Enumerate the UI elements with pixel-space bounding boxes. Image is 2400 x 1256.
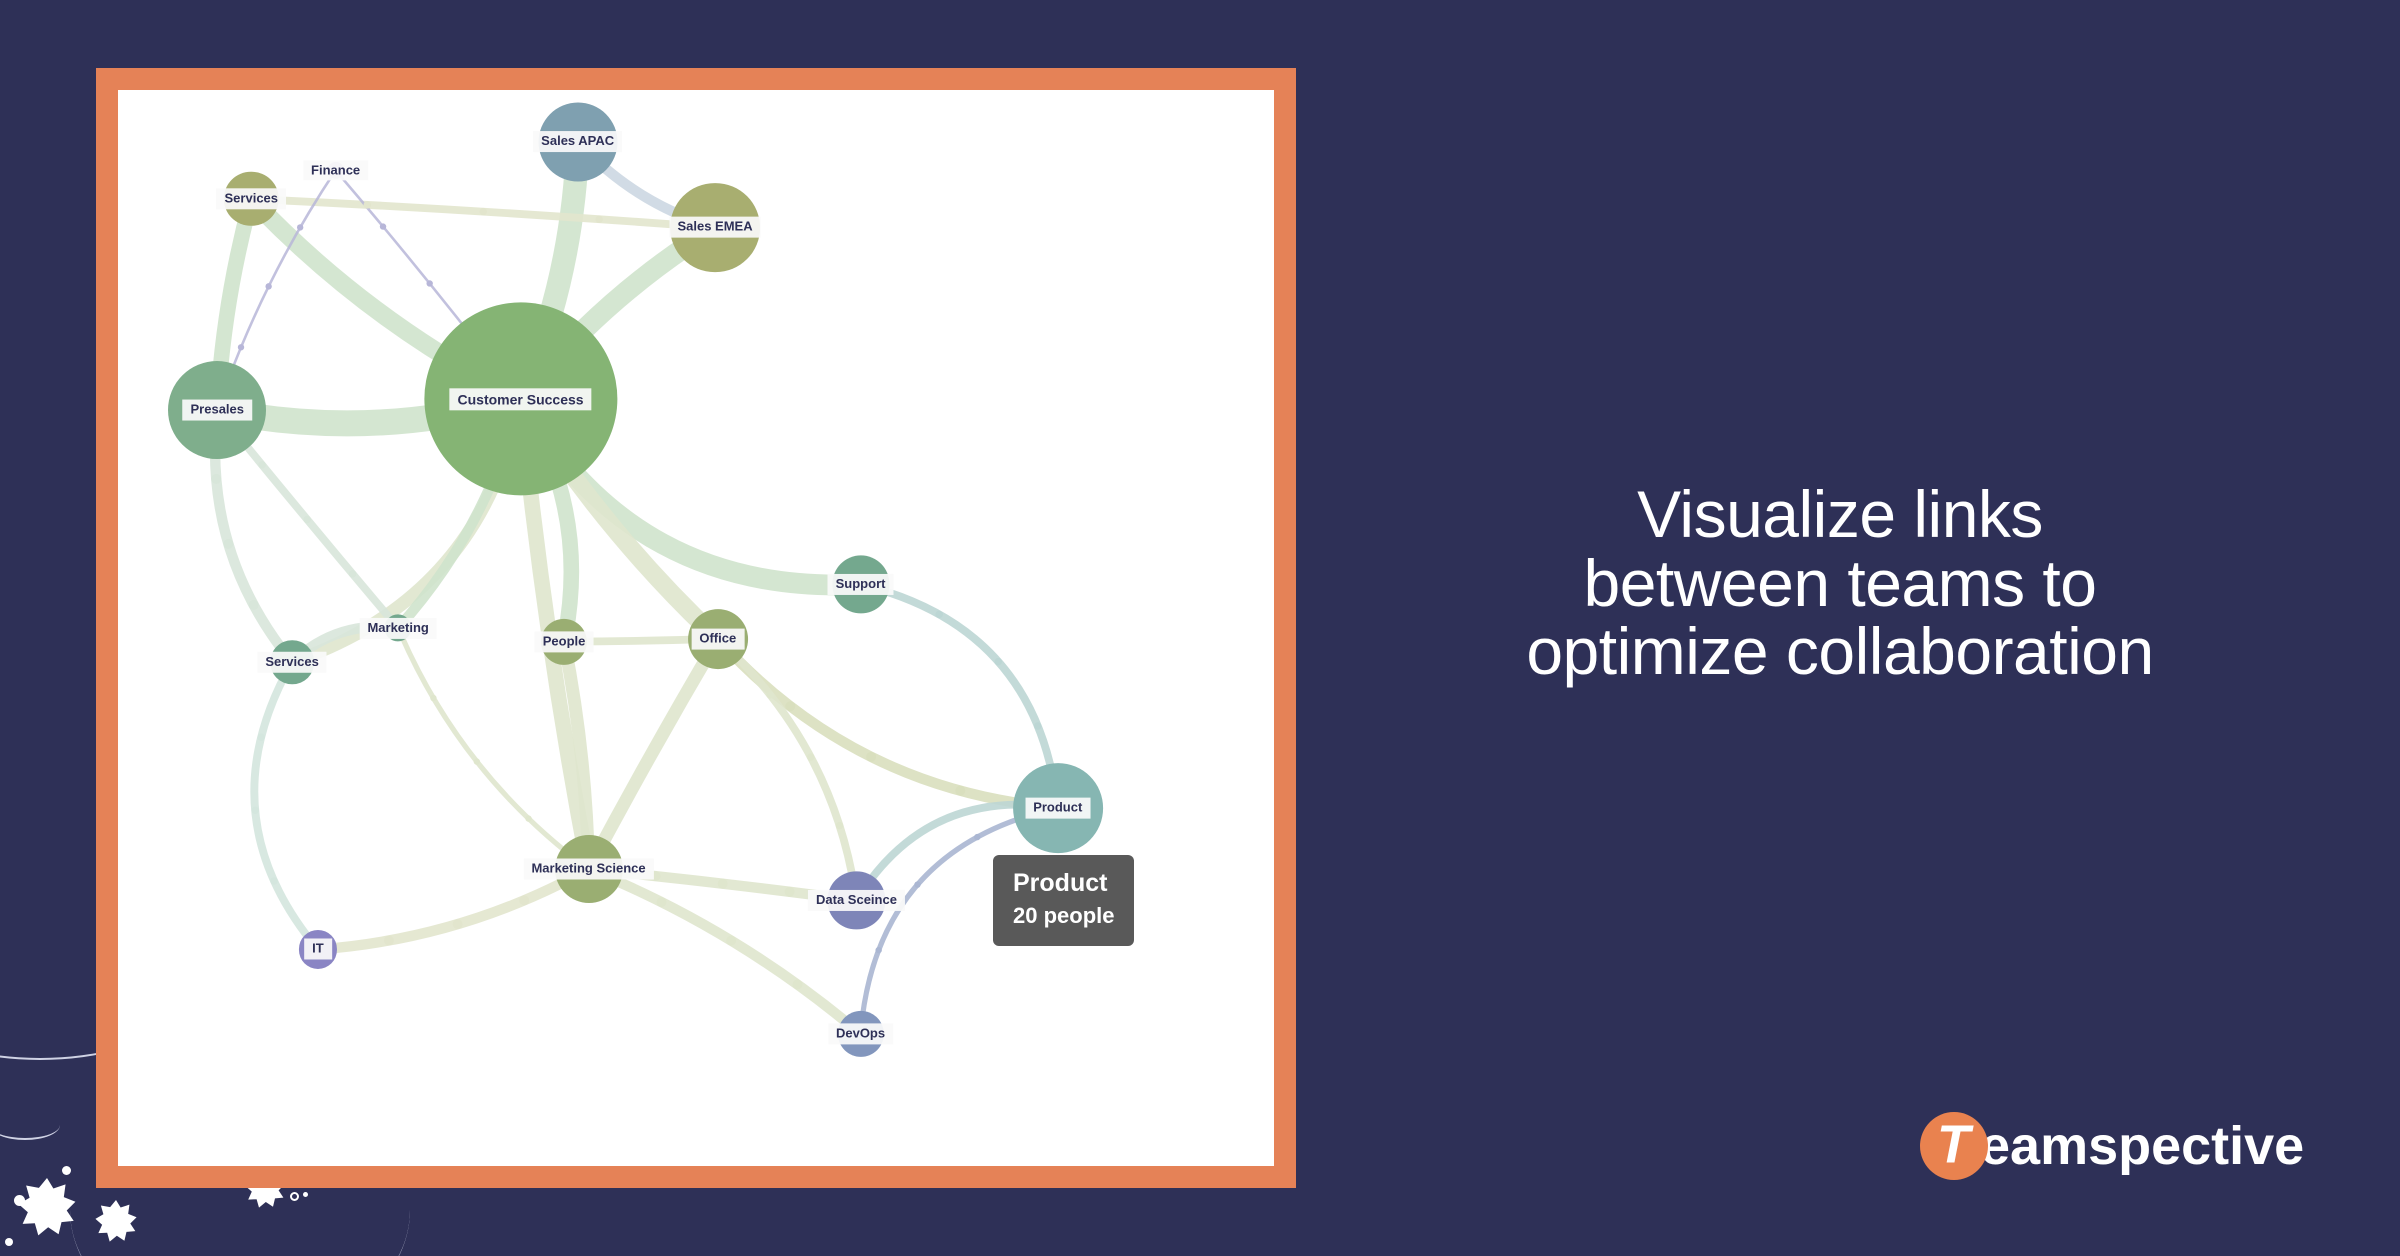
graph-node-presales[interactable]: Presales — [168, 361, 266, 459]
graph-node-label: Presales — [183, 400, 253, 421]
graph-node-label: Marketing Science — [523, 859, 653, 880]
graph-node-support[interactable]: Support — [832, 556, 889, 613]
graph-edge-dot — [595, 215, 603, 223]
graph-node-label: Sales EMEA — [669, 217, 760, 238]
graph-edge-dot — [384, 936, 394, 946]
decor-tick — [0, 1110, 60, 1140]
graph-node-label: Marketing — [359, 618, 436, 639]
graph-edge-dot — [519, 895, 529, 905]
graph-node-label: Customer Success — [450, 388, 592, 410]
graph-edge-dot — [270, 877, 278, 885]
logo-letter: T — [1937, 1117, 1970, 1171]
graph-node-label: Services — [257, 652, 327, 673]
graph-edge-dot — [265, 283, 271, 289]
graph-node-services-top[interactable]: Services — [224, 172, 278, 226]
headline-line-2: between teams to — [1390, 549, 2290, 618]
graph-node-sales-emea[interactable]: Sales EMEA — [670, 183, 760, 273]
graph-edge-dot — [303, 516, 311, 524]
graph-edge[interactable] — [254, 662, 318, 949]
graph-edge-dot — [257, 734, 265, 742]
graph-edge-dot — [875, 947, 881, 953]
graph-node-devops[interactable]: DevOps — [837, 1011, 883, 1057]
network-card: Sales APACFinanceServicesSales EMEAPresa… — [118, 90, 1274, 1166]
graph-edge-dot — [258, 461, 266, 469]
graph-edge-dot — [793, 980, 803, 990]
graph-node-customer-success[interactable]: Customer Success — [424, 303, 617, 496]
decor-blob-medium — [95, 1200, 137, 1242]
graph-edge-dot — [474, 758, 480, 764]
headline-line-3: optimize collaboration — [1390, 617, 2290, 686]
graph-node-marketing[interactable]: Marketing — [385, 614, 412, 641]
graph-node-label: Services — [217, 188, 287, 209]
decor-blob-large — [18, 1178, 76, 1236]
graph-edges-layer — [215, 142, 1058, 1034]
graph-node-label: Product — [1025, 797, 1090, 818]
graph-edge-dot — [453, 919, 463, 929]
graph-edge-dot — [525, 815, 531, 821]
graph-node-label: DevOps — [828, 1023, 893, 1044]
graph-node-it[interactable]: IT — [299, 930, 337, 968]
headline-line-1: Visualize links — [1390, 480, 2290, 549]
decor-ring-1 — [290, 1192, 299, 1201]
graph-node-label: People — [535, 631, 594, 652]
graph-edge-dot — [251, 806, 259, 814]
graph-node-label: Sales APAC — [533, 131, 622, 152]
graph-node-sales-apac[interactable]: Sales APAC — [538, 102, 617, 181]
graph-edge-dot — [297, 224, 303, 230]
decor-dot-2 — [62, 1166, 71, 1175]
tooltip-title: Product — [1013, 868, 1114, 899]
graph-edge-dot — [974, 834, 980, 840]
graph-edge-dot — [349, 570, 357, 578]
graph-edge-dot — [995, 658, 1003, 666]
graph-edge-dot — [836, 822, 844, 830]
graph-edge-dot — [785, 887, 795, 897]
graph-edge-dot — [807, 753, 815, 761]
graph-edge-dot — [785, 701, 795, 711]
graph-node-people[interactable]: People — [541, 618, 587, 664]
graph-edge-dot — [249, 600, 259, 610]
graph-node-finance[interactable]: Finance — [327, 162, 343, 178]
teamspective-logo: T eamspective — [1920, 1112, 2304, 1180]
graph-edge-dot — [726, 936, 736, 946]
graph-edge-dot — [430, 695, 436, 701]
decor-dot-1 — [14, 1195, 25, 1206]
graph-node-marketing-science[interactable]: Marketing Science — [555, 835, 623, 903]
logo-wordmark: eamspective — [1980, 1119, 2304, 1173]
graph-node-product[interactable]: Product — [1013, 763, 1103, 853]
graph-edge-dot — [866, 752, 876, 762]
headline: Visualize links between teams to optimiz… — [1390, 480, 2290, 686]
graph-node-label: Support — [828, 574, 894, 595]
graph-node-label: IT — [304, 939, 332, 960]
graph-edge-dot — [718, 879, 728, 889]
graph-edge-dot — [380, 223, 386, 229]
graph-node-label: Data Sceince — [808, 890, 905, 911]
graph-edge-dot — [935, 611, 943, 619]
graph-node-data-science[interactable]: Data Sceince — [828, 872, 885, 929]
graph-node-label: Office — [691, 628, 744, 649]
graph-edge-dot — [480, 208, 488, 216]
graph-edge-dot — [211, 474, 221, 484]
graph-node-services-left[interactable]: Services — [270, 640, 314, 684]
graph-edge-dot — [955, 786, 965, 796]
graph-edge-dot — [364, 201, 372, 209]
graph-edge-dot — [1034, 722, 1042, 730]
graph-edge-dot — [657, 897, 667, 907]
logo-mark-icon: T — [1920, 1112, 1988, 1180]
graph-edge-dot — [914, 881, 920, 887]
graph-edge-dot — [426, 280, 432, 286]
tooltip-subtitle: 20 people — [1013, 902, 1114, 931]
graph-edge[interactable] — [318, 869, 589, 949]
graph-edge-dot — [238, 344, 244, 350]
network-card-frame: Sales APACFinanceServicesSales EMEAPresa… — [96, 68, 1296, 1188]
decor-dot-4 — [303, 1192, 308, 1197]
graph-edge[interactable] — [718, 639, 1058, 808]
graph-edge[interactable] — [718, 639, 857, 901]
graph-edge-dot — [766, 691, 774, 699]
graph-node-label: Finance — [303, 160, 368, 181]
graph-node-office[interactable]: Office — [688, 609, 748, 669]
graph-edge-dot — [223, 539, 233, 549]
node-tooltip: Product 20 people — [993, 855, 1134, 946]
slide-canvas: Sales APACFinanceServicesSales EMEAPresa… — [0, 0, 2400, 1256]
decor-dot-3 — [5, 1238, 13, 1246]
